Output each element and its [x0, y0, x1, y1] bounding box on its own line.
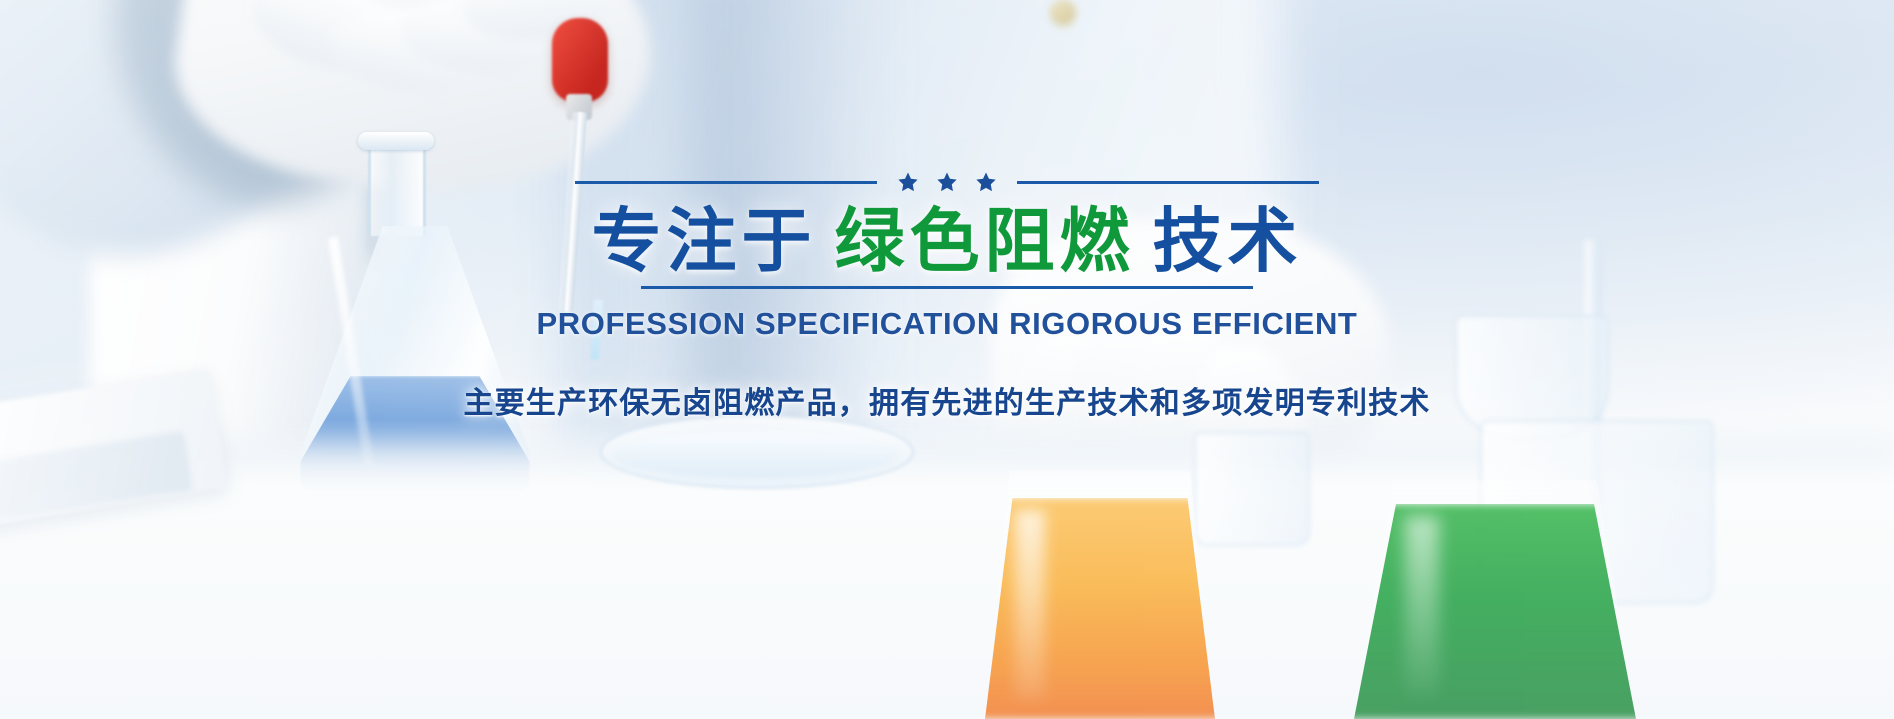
star-icon [936, 171, 958, 193]
headline-part-1: 专注于 [592, 202, 817, 280]
star-group [897, 171, 997, 193]
subtitle-english: PROFESSION SPECIFICATION RIGOROUS EFFICI… [537, 306, 1358, 342]
star-icon [975, 171, 997, 193]
divider-rule-right [1017, 181, 1319, 184]
headline-part-3: 技术 [1153, 202, 1303, 280]
divider-rule-left [575, 181, 877, 184]
star-icon [897, 171, 919, 193]
headline-part-2: 绿色阻燃 [835, 202, 1135, 280]
hero-banner: 专注于绿色阻燃技术 PROFESSION SPECIFICATION RIGOR… [0, 0, 1894, 719]
banner-content: 专注于绿色阻燃技术 PROFESSION SPECIFICATION RIGOR… [0, 0, 1894, 719]
headline: 专注于绿色阻燃技术 [592, 202, 1303, 280]
star-divider [575, 168, 1319, 196]
tagline-chinese: 主要生产环保无卤阻燃产品，拥有先进的生产技术和多项发明专利技术 [463, 378, 1430, 422]
headline-underline [641, 286, 1253, 289]
